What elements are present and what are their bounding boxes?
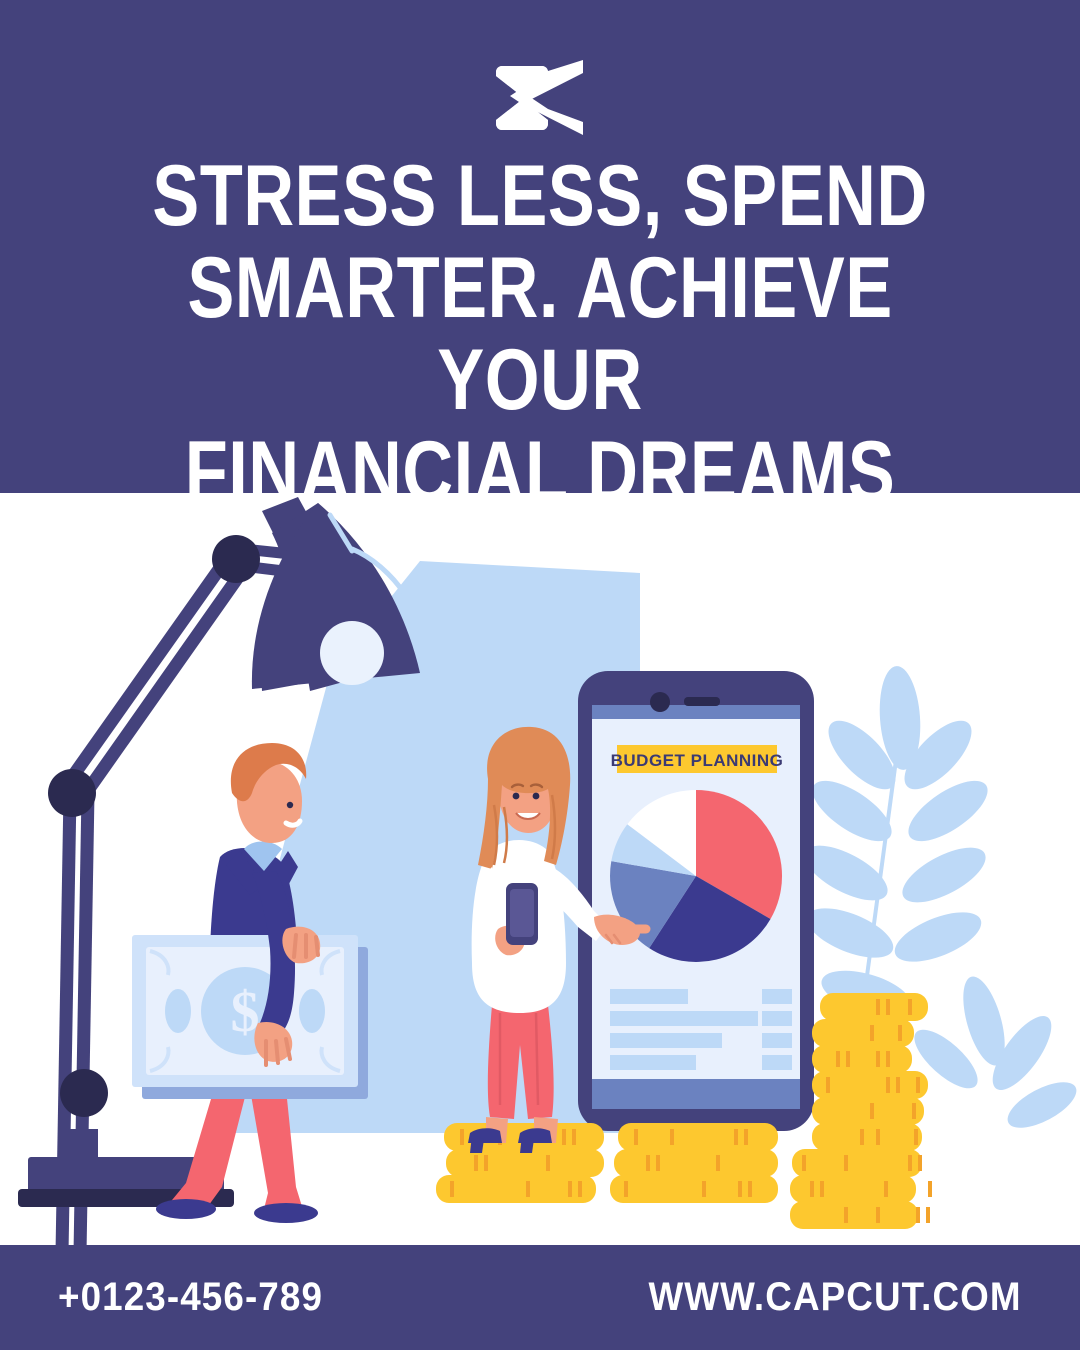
lamp-joint-lower bbox=[60, 1069, 108, 1117]
header-band: STRESS LESS, SPEND SMARTER. ACHIEVE YOUR… bbox=[0, 0, 1080, 493]
lamp-joint-upper bbox=[212, 535, 260, 583]
banknote: $ bbox=[132, 935, 368, 1099]
capcut-logo-icon bbox=[480, 60, 600, 136]
smartphone-mockup: BUDGET PLANNING bbox=[578, 671, 814, 1131]
phone-speaker-icon bbox=[684, 697, 720, 706]
website-url[interactable]: WWW.CAPCUT.COM bbox=[649, 1275, 1022, 1320]
footer-band: +0123-456-789 WWW.CAPCUT.COM bbox=[0, 1245, 1080, 1350]
illustration-stage: $ bbox=[0, 493, 1080, 1245]
budget-planning-banner: BUDGET PLANNING bbox=[611, 745, 784, 773]
social-media-poster: STRESS LESS, SPEND SMARTER. ACHIEVE YOUR… bbox=[0, 0, 1080, 1350]
man-shoe-front bbox=[254, 1203, 318, 1223]
woman-eye-left bbox=[513, 793, 520, 800]
lamp-joint-mid bbox=[48, 769, 96, 817]
lamp-bulb bbox=[320, 621, 384, 685]
phone-homebar bbox=[592, 1079, 800, 1109]
coin-stack-middle bbox=[610, 1123, 778, 1203]
phone-statusbar bbox=[592, 705, 800, 719]
phone-camera-icon bbox=[650, 692, 670, 712]
contact-phone[interactable]: +0123-456-789 bbox=[58, 1275, 323, 1320]
svg-text:BUDGET PLANNING: BUDGET PLANNING bbox=[611, 751, 784, 770]
man-shoe-back bbox=[156, 1199, 216, 1219]
headline: STRESS LESS, SPEND SMARTER. ACHIEVE YOUR… bbox=[130, 150, 950, 518]
woman-eye-right bbox=[533, 793, 540, 800]
